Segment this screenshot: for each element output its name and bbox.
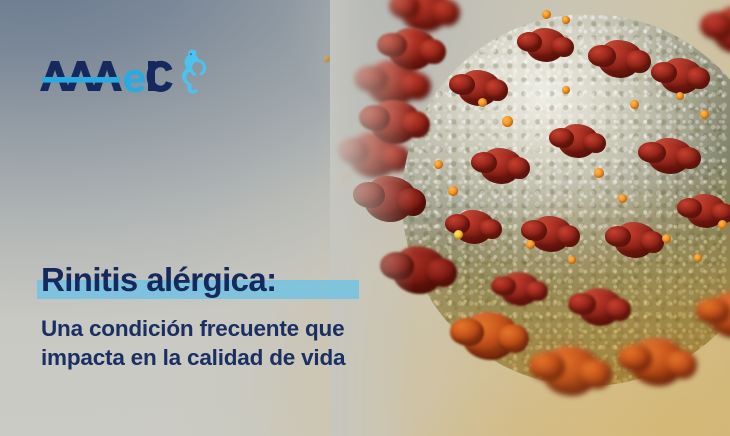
subtitle-block: Una condición frecuente que impacta en l… [41,314,461,373]
seahorse-icon [181,49,207,95]
headline-block: Rinitis alérgica: [41,262,461,298]
aaaeic-wordmark [38,59,173,93]
banner-image: Rinitis alérgica: Una condición frecuent… [0,0,730,436]
page-title: Rinitis alérgica: [41,262,297,298]
subtitle-line-2: impacta en la calidad de vida [41,343,461,372]
aaaeic-logo[interactable] [38,52,207,100]
headline-text: Rinitis alérgica: [41,261,277,298]
subtitle-line-1: Una condición frecuente que [41,314,461,343]
